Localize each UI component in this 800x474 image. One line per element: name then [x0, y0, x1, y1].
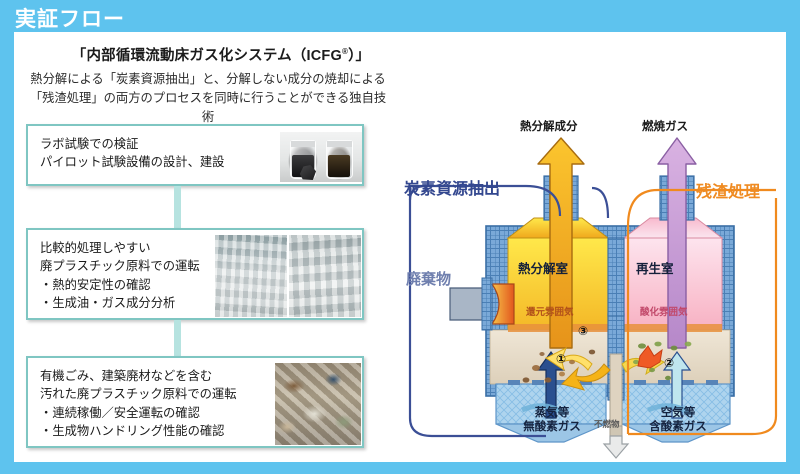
process-marker-3: ③ [578, 324, 588, 338]
jar-cap-right [327, 141, 352, 147]
flow-step-2-line-2: 廃プラスチック原料での運転 [40, 257, 200, 275]
system-title-post: ）」 [348, 48, 370, 64]
steam-gas-label: 蒸気等 無酸素ガス [502, 406, 602, 435]
flow-step-1-line-2: パイロット試験設備の設計、建設 [40, 153, 224, 171]
system-title-pre: 「内部循環流動床ガス化システム（ICFG [72, 48, 342, 64]
incombustibles-label: 不燃物 [594, 418, 620, 430]
sample-jar-right [326, 140, 353, 179]
pyrolysis-chamber-label: 熱分解室 [518, 258, 568, 277]
air-gas-line-1: 空気等 [628, 406, 728, 420]
flow-step-2[interactable]: 比較的処理しやすい 廃プラスチック原料での運転 熱的安定性の確認 生成油・ガス成… [26, 228, 364, 320]
steam-gas-line-2: 無酸素ガス [502, 420, 602, 434]
process-marker-1: ① [556, 352, 566, 366]
carbon-extraction-label: 炭素資源抽出 [404, 175, 500, 199]
mixed-dirty-waste-photo [275, 363, 361, 445]
flow-step-3-bullet-2: 生成物ハンドリング性能の確認 [40, 422, 237, 440]
jar-fill-right [328, 155, 350, 176]
page-title: 実証フロー [15, 3, 125, 33]
flow-connector-1 [174, 186, 181, 228]
process-marker-2: ② [664, 356, 674, 370]
system-title: 「内部循環流動床ガス化システム（ICFG®）」 [46, 44, 396, 65]
flow-step-3[interactable]: 有機ごみ、建築廃材などを含む 汚れた廃プラスチック原料での運転 連続稼働／安全運… [26, 356, 364, 448]
waste-input-label: 廃棄物 [406, 268, 451, 289]
flow-step-3-line-2: 汚れた廃プラスチック原料での運転 [40, 385, 237, 403]
system-description: 熱分解による「炭素資源抽出」と、分解しない成分の焼却による 「残渣処理」の両方の… [24, 70, 392, 127]
steam-gas-line-1: 蒸気等 [502, 406, 602, 420]
description-line-2: 「残渣処理」の両方のプロセスを同時に行うことができる独自技術 [24, 89, 392, 127]
description-line-1: 熱分解による「炭素資源抽出」と、分解しない成分の焼却による [24, 70, 392, 89]
combustion-gas-label: 燃焼ガス [642, 118, 688, 134]
oxidizing-atmosphere-label: 酸化雰囲気 [640, 304, 688, 318]
flow-connector-2 [174, 320, 181, 356]
flow-step-3-text: 有機ごみ、建築廃材などを含む 汚れた廃プラスチック原料での運転 連続稼働／安全運… [40, 367, 237, 441]
flow-step-2-text: 比較的処理しやすい 廃プラスチック原料での運転 熱的安定性の確認 生成油・ガス成… [40, 239, 200, 313]
jar-cap-left [291, 141, 316, 147]
flow-step-2-bullet-2: 生成油・ガス成分分析 [40, 294, 200, 312]
flow-step-3-line-1: 有機ごみ、建築廃材などを含む [40, 367, 237, 385]
icfg-reactor-diagram: 熱分解成分 燃焼ガス 炭素資源抽出 残渣処理 廃棄物 熱分解室 還元雰囲気 再生… [396, 118, 784, 460]
flow-step-2-line-1: 比較的処理しやすい [40, 239, 200, 257]
baled-waste-plastic-photo [215, 235, 287, 317]
reducing-atmosphere-label: 還元雰囲気 [526, 304, 574, 318]
flow-step-2-bullet-1: 熱的安定性の確認 [40, 276, 200, 294]
flow-step-1[interactable]: ラボ試験での検証 パイロット試験設備の設計、建設 [26, 124, 364, 186]
pyrolysis-output-label: 熱分解成分 [520, 118, 578, 134]
residue-treatment-label: 残渣処理 [696, 178, 760, 202]
lab-sample-jars-photo [280, 132, 362, 182]
outer-frame: 実証フロー 「内部循環流動床ガス化システム（ICFG®）」 熱分解による「炭素資… [0, 0, 800, 474]
flow-step-1-line-1: ラボ試験での検証 [40, 135, 224, 153]
content-panel: 「内部循環流動床ガス化システム（ICFG®）」 熱分解による「炭素資源抽出」と、… [14, 32, 786, 462]
flow-step-3-bullet-1: 連続稼働／安全運転の確認 [40, 404, 237, 422]
flow-step-1-text: ラボ試験での検証 パイロット試験設備の設計、建設 [40, 135, 224, 172]
air-gas-label: 空気等 含酸素ガス [628, 406, 728, 435]
warehouse-bales-photo [289, 235, 361, 317]
regeneration-chamber-label: 再生室 [636, 258, 674, 277]
air-gas-line-2: 含酸素ガス [628, 420, 728, 434]
